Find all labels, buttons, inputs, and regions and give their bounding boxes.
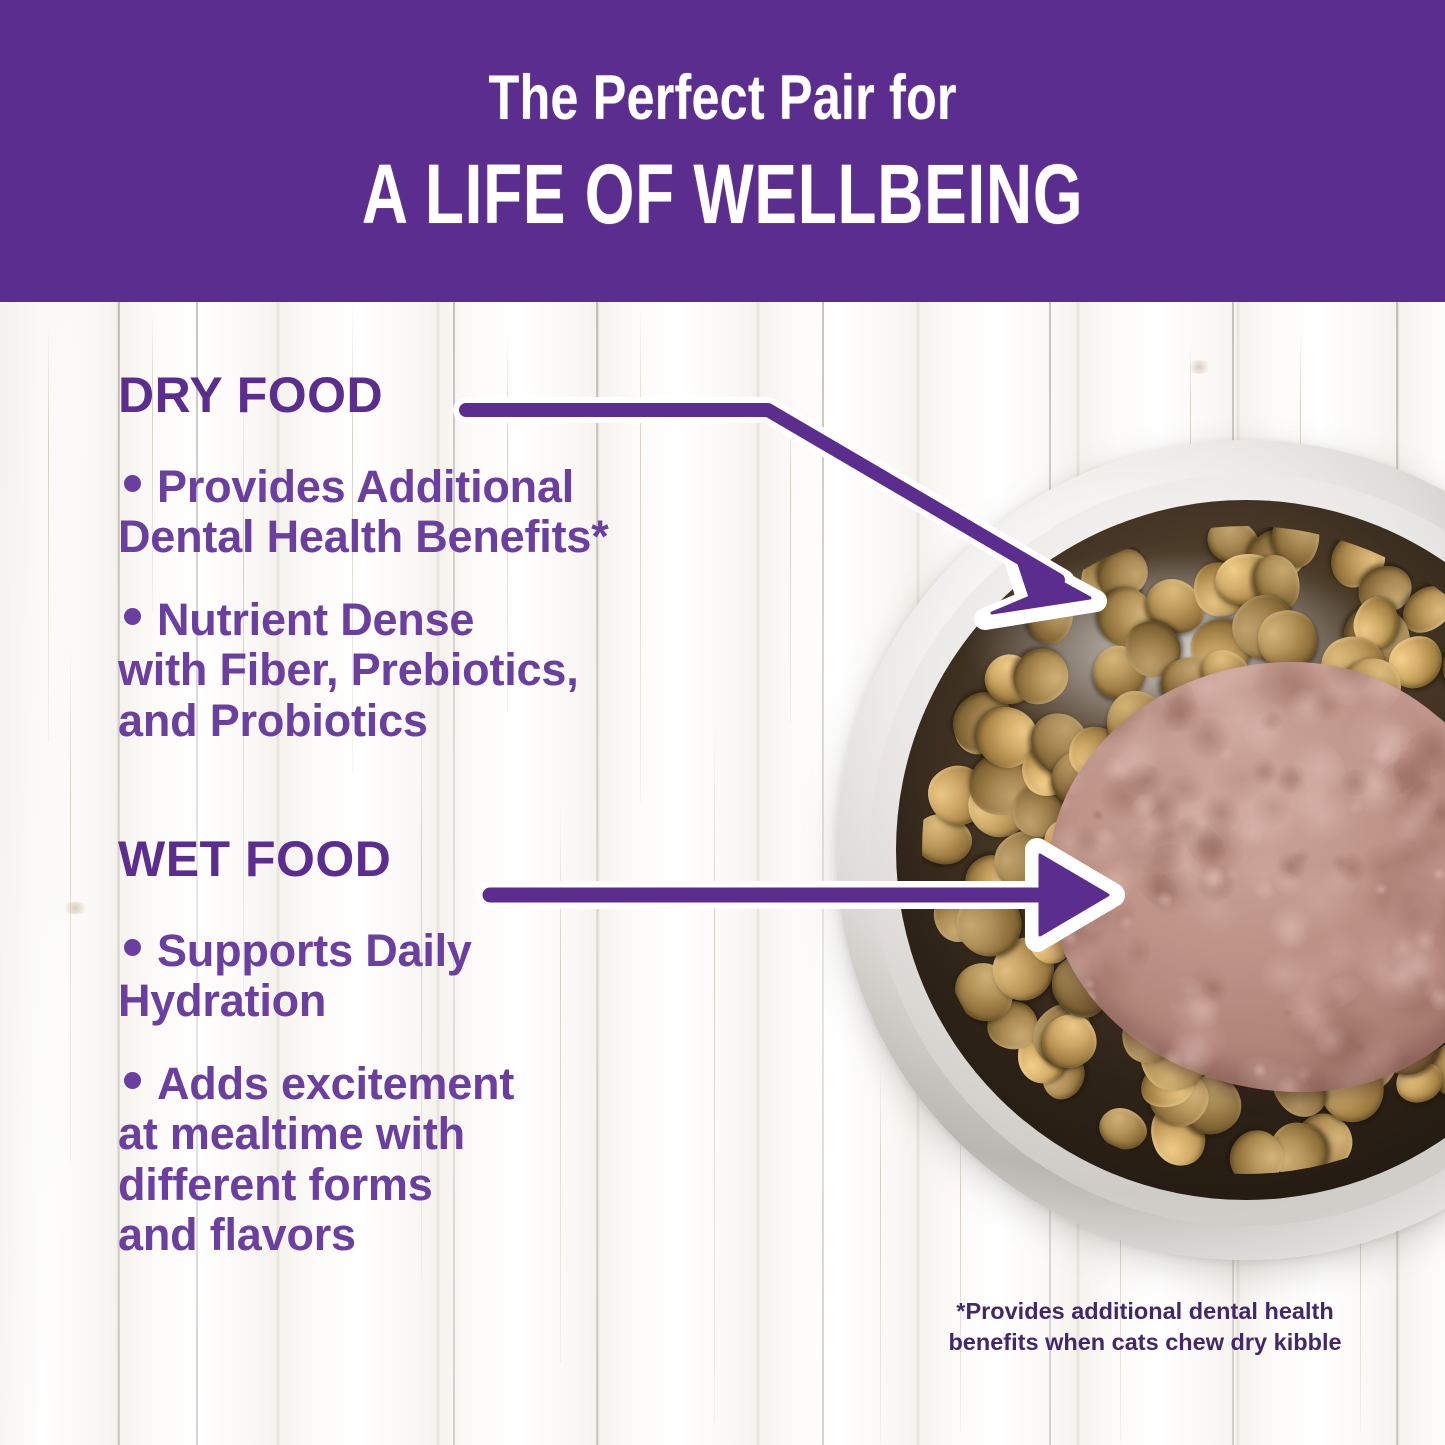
wet-food-bullet-2-line1: Adds excitement <box>157 1058 514 1109</box>
wet-food-bullet-1: Supports Daily Hydration <box>118 926 778 1027</box>
header-title-line1: The Perfect Pair for <box>488 67 956 130</box>
dry-food-bullet-2-line2: with Fiber, Prebiotics, <box>118 644 579 695</box>
product-infographic: The Perfect Pair for A LIFE OF WELLBEING… <box>0 0 1445 1445</box>
header-banner: The Perfect Pair for A LIFE OF WELLBEING <box>0 0 1445 302</box>
footnote-line1: *Provides additional dental health <box>956 1298 1333 1324</box>
wet-food-bullet-1-line2: Hydration <box>118 975 326 1026</box>
header-title-line2: A LIFE OF WELLBEING <box>362 152 1083 236</box>
wet-food-bullet-2-line3: different forms <box>118 1159 433 1210</box>
dry-food-bullet-1-line2: Dental Health Benefits* <box>118 511 609 562</box>
bullet-dot-icon <box>124 475 141 492</box>
bullet-dot-icon <box>124 1072 141 1089</box>
dry-food-bullet-1-line1: Provides Additional <box>157 461 574 512</box>
dry-food-heading: DRY FOOD <box>118 370 778 420</box>
copy-column: DRY FOOD Provides Additional Dental Heal… <box>118 370 778 1260</box>
dry-food-bullet-2-line1: Nutrient Dense <box>157 594 474 645</box>
wet-food-heading: WET FOOD <box>118 834 778 884</box>
bullet-dot-icon <box>124 939 141 956</box>
dry-food-bullet-2: Nutrient Dense with Fiber, Prebiotics, a… <box>118 595 778 746</box>
footnote-line2: benefits when cats chew dry kibble <box>948 1329 1341 1355</box>
wet-food-bullet-2-line2: at mealtime with <box>118 1108 465 1159</box>
bullet-dot-icon <box>124 608 141 625</box>
wet-food-bullet-2: Adds excitement at mealtime with differe… <box>118 1059 778 1261</box>
dry-food-bullet-1: Provides Additional Dental Health Benefi… <box>118 462 778 563</box>
footnote: *Provides additional dental health benef… <box>930 1296 1360 1358</box>
wet-food-bullet-2-line4: and flavors <box>118 1209 356 1260</box>
dry-food-bullet-2-line3: and Probiotics <box>118 695 428 746</box>
wet-food-bullet-1-line1: Supports Daily <box>157 925 472 976</box>
